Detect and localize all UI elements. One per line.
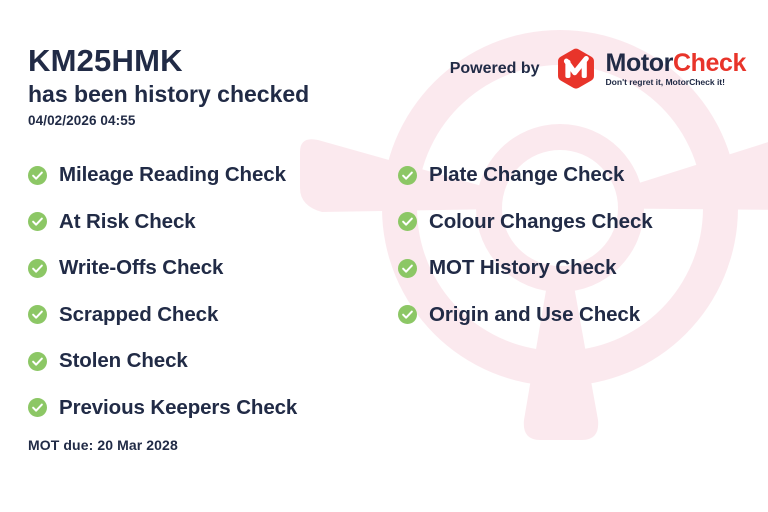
check-label: MOT History Check — [429, 256, 616, 280]
check-circle-icon — [398, 212, 417, 231]
check-circle-icon — [28, 398, 47, 417]
check-label: Previous Keepers Check — [59, 396, 297, 420]
list-item[interactable]: Plate Change Check — [398, 152, 738, 199]
check-label: Scrapped Check — [59, 303, 218, 327]
wordmark-row: MotorCheck — [606, 51, 746, 77]
check-circle-icon — [28, 352, 47, 371]
list-item[interactable]: MOT History Check — [398, 245, 738, 292]
list-item[interactable]: Scrapped Check — [28, 292, 398, 339]
check-circle-icon — [28, 259, 47, 278]
check-label: Stolen Check — [59, 349, 188, 373]
list-item[interactable]: Mileage Reading Check — [28, 152, 398, 199]
checks-column-left: Mileage Reading Check At Risk Check Writ… — [28, 152, 398, 431]
motorcheck-logo[interactable]: MotorCheck Don't regret it, MotorCheck i… — [554, 47, 746, 91]
check-circle-icon — [398, 259, 417, 278]
check-label: Origin and Use Check — [429, 303, 640, 327]
powered-by-label: Powered by — [450, 60, 540, 78]
check-label: Plate Change Check — [429, 163, 624, 187]
checks-list: Mileage Reading Check At Risk Check Writ… — [28, 152, 740, 431]
list-item[interactable]: Stolen Check — [28, 338, 398, 385]
check-timestamp: 04/02/2026 04:55 — [28, 113, 309, 128]
mot-due-text: MOT due: 20 Mar 2028 — [28, 437, 178, 453]
check-label: Write-Offs Check — [59, 256, 223, 280]
check-circle-icon — [28, 212, 47, 231]
brand-tagline: Don't regret it, MotorCheck it! — [606, 78, 746, 87]
registration-number: KM25HMK — [28, 44, 309, 79]
vehicle-history-check-card: KM25HMK has been history checked 04/02/2… — [0, 0, 768, 512]
list-item[interactable]: Origin and Use Check — [398, 292, 738, 339]
wordmark-check: Check — [673, 49, 746, 77]
powered-by-block: Powered by MotorCheck Don't regret it, M… — [450, 47, 746, 91]
motorcheck-hexagon-m-check-icon — [554, 47, 598, 91]
check-circle-icon — [28, 305, 47, 324]
list-item[interactable]: Previous Keepers Check — [28, 385, 398, 432]
check-circle-icon — [28, 166, 47, 185]
check-label: At Risk Check — [59, 210, 196, 234]
check-circle-icon — [398, 166, 417, 185]
checks-column-right: Plate Change Check Colour Changes Check … — [398, 152, 738, 431]
motorcheck-wordmark: MotorCheck Don't regret it, MotorCheck i… — [606, 51, 746, 87]
card-header: KM25HMK has been history checked 04/02/2… — [28, 44, 309, 128]
wordmark-motor: Motor — [606, 49, 673, 77]
list-item[interactable]: At Risk Check — [28, 199, 398, 246]
list-item[interactable]: Colour Changes Check — [398, 199, 738, 246]
check-circle-icon — [398, 305, 417, 324]
check-label: Mileage Reading Check — [59, 163, 286, 187]
page-title: has been history checked — [28, 81, 309, 107]
check-label: Colour Changes Check — [429, 210, 653, 234]
list-item[interactable]: Write-Offs Check — [28, 245, 398, 292]
